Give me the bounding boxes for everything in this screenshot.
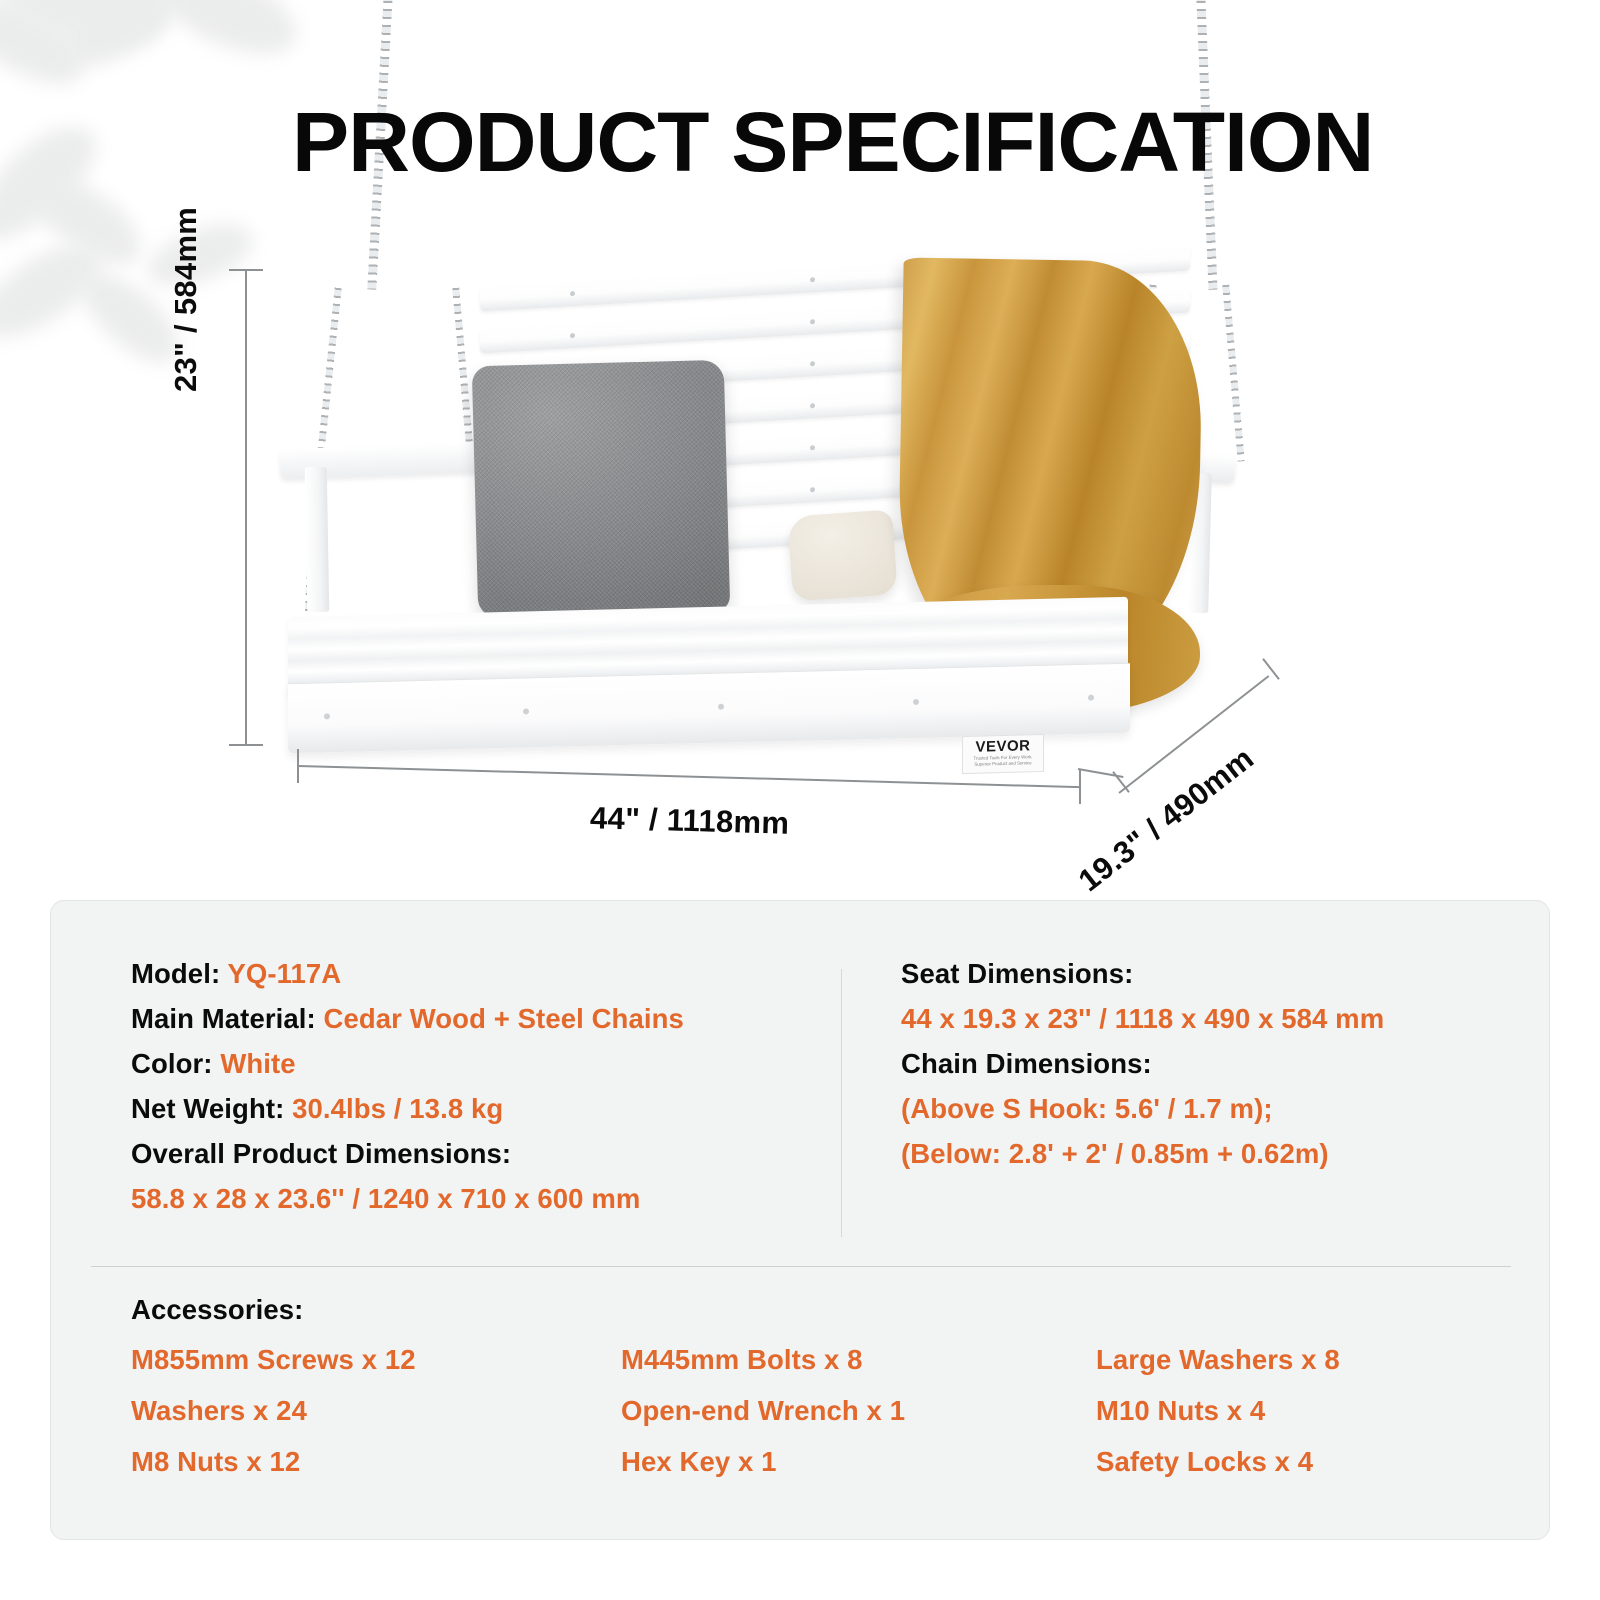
product-specification-page: VEVOR Trusted Tools For Every Work. Supe… xyxy=(0,0,1600,1600)
spec-value-model: YQ-117A xyxy=(227,958,341,989)
width-tick-left xyxy=(297,749,299,783)
accessory-item: Open-end Wrench x 1 xyxy=(621,1385,1096,1436)
spec-row-main-material: Main Material: Cedar Wood + Steel Chains xyxy=(131,996,821,1041)
spec-label-seat-dimensions: Seat Dimensions: xyxy=(901,951,1511,996)
accessory-item: Washers x 24 xyxy=(131,1385,621,1436)
porch-swing xyxy=(270,255,1270,775)
spec-value-seat-dimensions: 44 x 19.3 x 23'' / 1118 x 490 x 584 mm xyxy=(901,996,1511,1041)
accessory-item: Hex Key x 1 xyxy=(621,1436,1096,1487)
height-tick-bottom xyxy=(229,744,263,746)
spec-value-color: White xyxy=(220,1048,295,1079)
accessories-grid: M855mm Screws x 12 M445mm Bolts x 8 Larg… xyxy=(131,1334,1511,1487)
accessories-title: Accessories: xyxy=(131,1286,1511,1334)
accessory-item: Safety Locks x 4 xyxy=(1096,1436,1511,1487)
spec-column-left: Model: YQ-117A Main Material: Cedar Wood… xyxy=(131,951,821,1221)
specification-panel: Model: YQ-117A Main Material: Cedar Wood… xyxy=(50,900,1550,1540)
spec-label-color: Color: xyxy=(131,1048,213,1079)
height-tick-top xyxy=(229,269,263,271)
accessory-item: Large Washers x 8 xyxy=(1096,1334,1511,1385)
accessory-item: M10 Nuts x 4 xyxy=(1096,1385,1511,1436)
spec-value-chain-above-hook: (Above S Hook: 5.6' / 1.7 m); xyxy=(901,1086,1511,1131)
spec-label-chain-dimensions: Chain Dimensions: xyxy=(901,1041,1511,1086)
height-dimension-line xyxy=(245,270,247,746)
spec-label-net-weight: Net Weight: xyxy=(131,1093,284,1124)
width-tick-right xyxy=(1079,770,1081,804)
spec-column-right: Seat Dimensions: 44 x 19.3 x 23'' / 1118… xyxy=(901,951,1511,1176)
width-dimension-label: 44" / 1118mm xyxy=(590,800,790,842)
vevor-brand-label: VEVOR Trusted Tools For Every Work. Supe… xyxy=(962,734,1044,774)
spec-value-main-material: Cedar Wood + Steel Chains xyxy=(324,1003,684,1034)
panel-vertical-divider xyxy=(841,969,842,1237)
height-dimension-label: 23" / 584mm xyxy=(168,207,204,392)
accessory-item: M8 Nuts x 12 xyxy=(131,1436,621,1487)
spec-label-overall-dimensions: Overall Product Dimensions: xyxy=(131,1131,821,1176)
panel-horizontal-divider xyxy=(91,1266,1511,1267)
accessories-section: Accessories: M855mm Screws x 12 M445mm B… xyxy=(131,1286,1511,1487)
swing-arm-post-left-front xyxy=(305,467,330,612)
spec-label-model: Model: xyxy=(131,958,220,989)
spec-value-overall-dimensions: 58.8 x 28 x 23.6'' / 1240 x 710 x 600 mm xyxy=(131,1176,821,1221)
accessory-item: M855mm Screws x 12 xyxy=(131,1334,621,1385)
spec-row-model: Model: YQ-117A xyxy=(131,951,821,996)
spec-value-net-weight: 30.4lbs / 13.8 kg xyxy=(292,1093,503,1124)
page-title: PRODUCT SPECIFICATION xyxy=(292,101,1312,183)
product-hero-image: VEVOR Trusted Tools For Every Work. Supe… xyxy=(0,0,1600,900)
spec-label-main-material: Main Material: xyxy=(131,1003,316,1034)
spec-row-net-weight: Net Weight: 30.4lbs / 13.8 kg xyxy=(131,1086,821,1131)
accessory-item: M445mm Bolts x 8 xyxy=(621,1334,1096,1385)
spec-value-chain-below-hook: (Below: 2.8' + 2' / 0.85m + 0.62m) xyxy=(901,1131,1511,1176)
decorative-cream-pillow xyxy=(787,509,898,601)
spec-row-color: Color: White xyxy=(131,1041,821,1086)
decorative-grey-pillow xyxy=(472,360,731,619)
vevor-logo-text: VEVOR xyxy=(963,737,1043,756)
specification-top-section: Model: YQ-117A Main Material: Cedar Wood… xyxy=(51,901,1549,1266)
